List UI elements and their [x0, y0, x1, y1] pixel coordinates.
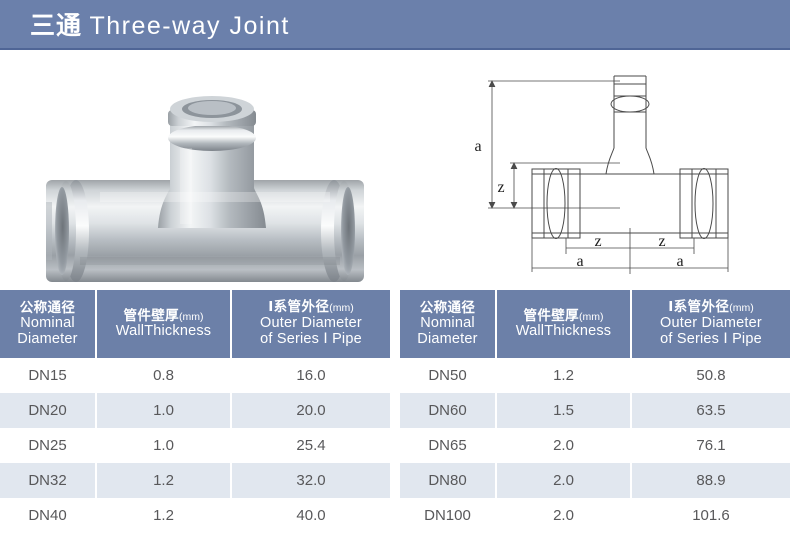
header-nominal-en-1: Nominal [2, 315, 93, 331]
header-nominal-cn: 公称通径 [402, 300, 493, 315]
header-outer-en-1: Outer Diameter [634, 315, 788, 331]
spec-tables: 公称通径 Nominal Diameter 管件壁厚(mm) WallThick… [0, 290, 790, 536]
cell-wall: 2.0 [497, 498, 632, 533]
cell-wall: 1.2 [97, 463, 232, 498]
cell-outer: 76.1 [632, 428, 790, 463]
dim-label-z-vertical: z [497, 179, 504, 196]
header-outer-en-2: of Series Ⅰ Pipe [234, 331, 388, 347]
header-nominal-diameter: 公称通径 Nominal Diameter [0, 290, 97, 358]
spec-table-left: 公称通径 Nominal Diameter 管件壁厚(mm) WallThick… [0, 290, 390, 533]
header-wall-en: WallThickness [499, 323, 628, 339]
title-banner: 三通 Three-way Joint [0, 0, 790, 50]
cell-nominal: DN40 [0, 498, 97, 533]
cell-nominal: DN65 [400, 428, 497, 463]
table-row: DN150.816.0 [0, 358, 390, 393]
product-photo: 久润利华 [10, 52, 400, 285]
table-row: DN321.232.0 [0, 463, 390, 498]
header-nominal-en-2: Diameter [2, 331, 93, 347]
cell-wall: 2.0 [497, 428, 632, 463]
header-wall-thickness: 管件壁厚(mm) WallThickness [97, 290, 232, 358]
cell-outer: 88.9 [632, 463, 790, 498]
table-row: DN802.088.9 [400, 463, 790, 498]
header-wall-en: WallThickness [99, 323, 228, 339]
cell-outer: 101.6 [632, 498, 790, 533]
table-row: DN601.563.5 [400, 393, 790, 428]
page-title-chinese: 三通 [30, 12, 82, 40]
table-row: DN652.076.1 [400, 428, 790, 463]
cell-outer: 40.0 [232, 498, 390, 533]
header-outer-diameter: Ⅰ系管外径(mm) Outer Diameter of Series Ⅰ Pip… [232, 290, 390, 358]
table-body-left: DN150.816.0DN201.020.0DN251.025.4DN321.2… [0, 358, 390, 533]
page-title-english: Three-way Joint [89, 12, 289, 40]
cell-wall: 1.2 [497, 358, 632, 393]
table-row: DN1002.0101.6 [400, 498, 790, 533]
table-row: DN201.020.0 [0, 393, 390, 428]
header-wall-cn: 管件壁厚(mm) [499, 308, 628, 324]
table-header-row: 公称通径 Nominal Diameter 管件壁厚(mm) WallThick… [400, 290, 790, 358]
header-nominal-cn: 公称通径 [2, 300, 93, 315]
cell-outer: 20.0 [232, 393, 390, 428]
table-body-right: DN501.250.8DN601.563.5DN652.076.1DN802.0… [400, 358, 790, 533]
cell-wall: 1.0 [97, 428, 232, 463]
cell-wall: 1.2 [97, 498, 232, 533]
cell-nominal: DN60 [400, 393, 497, 428]
cell-nominal: DN20 [0, 393, 97, 428]
cell-nominal: DN50 [400, 358, 497, 393]
table-row: DN251.025.4 [0, 428, 390, 463]
page-title: 三通 Three-way Joint [30, 6, 290, 42]
media-row: 久润利华 [0, 52, 790, 285]
dim-label-a-left: a [576, 253, 583, 270]
dim-label-a-right: a [676, 253, 683, 270]
table-row: DN401.240.0 [0, 498, 390, 533]
header-wall-cn: 管件壁厚(mm) [99, 308, 228, 324]
cell-outer: 50.8 [632, 358, 790, 393]
header-nominal-en-1: Nominal [402, 315, 493, 331]
cell-wall: 1.0 [97, 393, 232, 428]
cell-wall: 1.5 [497, 393, 632, 428]
dim-label-z-left: z [594, 233, 601, 250]
cell-outer: 63.5 [632, 393, 790, 428]
cell-nominal: DN100 [400, 498, 497, 533]
header-outer-cn: Ⅰ系管外径(mm) [234, 299, 388, 315]
cell-outer: 16.0 [232, 358, 390, 393]
header-outer-diameter: Ⅰ系管外径(mm) Outer Diameter of Series Ⅰ Pip… [632, 290, 790, 358]
table-row: DN501.250.8 [400, 358, 790, 393]
table-header-row: 公称通径 Nominal Diameter 管件壁厚(mm) WallThick… [0, 290, 390, 358]
cell-outer: 32.0 [232, 463, 390, 498]
header-wall-thickness: 管件壁厚(mm) WallThickness [497, 290, 632, 358]
cell-nominal: DN32 [0, 463, 97, 498]
header-outer-en-2: of Series Ⅰ Pipe [634, 331, 788, 347]
cell-nominal: DN80 [400, 463, 497, 498]
cell-outer: 25.4 [232, 428, 390, 463]
spec-table-right: 公称通径 Nominal Diameter 管件壁厚(mm) WallThick… [400, 290, 790, 533]
header-outer-en-1: Outer Diameter [234, 315, 388, 331]
header-nominal-diameter: 公称通径 Nominal Diameter [400, 290, 497, 358]
cell-wall: 0.8 [97, 358, 232, 393]
technical-drawing: a z z z a a [470, 56, 790, 285]
technical-drawing-image: a z z z a a [470, 56, 790, 285]
header-nominal-en-2: Diameter [402, 331, 493, 347]
product-photo-image [10, 52, 400, 285]
cell-nominal: DN15 [0, 358, 97, 393]
header-outer-cn: Ⅰ系管外径(mm) [634, 299, 788, 315]
cell-nominal: DN25 [0, 428, 97, 463]
cell-wall: 2.0 [497, 463, 632, 498]
dim-label-a-vertical: a [474, 138, 481, 155]
dim-label-z-right: z [658, 233, 665, 250]
